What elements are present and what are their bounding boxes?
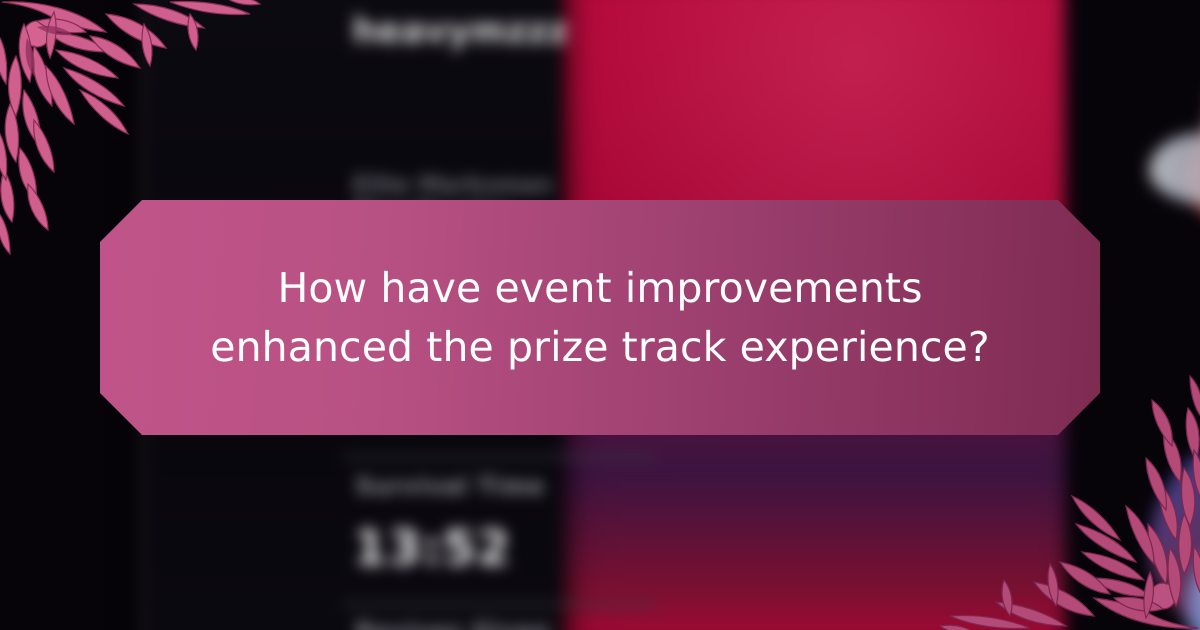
player-name: heavymzzz bbox=[352, 10, 568, 51]
stat-label-revives-given: Revives Given bbox=[356, 620, 551, 630]
stat-divider bbox=[343, 603, 655, 606]
social-share-card: heavymzzz Elite Marksman Bloodhunter Sur… bbox=[0, 0, 1200, 630]
stat-value-survival-time: 13:52 bbox=[354, 520, 511, 576]
headline-text: How have event improvements enhanced the… bbox=[185, 259, 1015, 375]
headline-banner: How have event improvements enhanced the… bbox=[100, 200, 1100, 435]
stat-label-survival-time: Survival Time bbox=[356, 474, 545, 500]
stat-divider bbox=[343, 455, 655, 458]
